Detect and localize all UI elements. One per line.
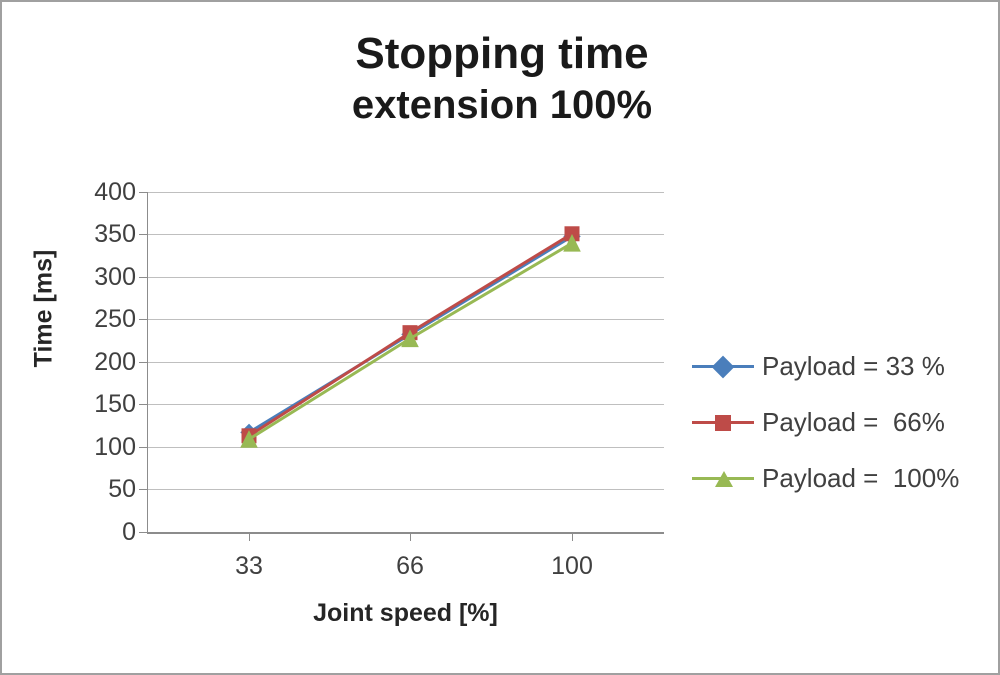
x-axis-title: Joint speed [%] — [147, 599, 664, 628]
legend-marker-triangle-icon — [692, 466, 754, 490]
x-tick-label-66: 66 — [350, 554, 470, 579]
y-axis-tick-150 — [139, 404, 147, 405]
series-group-3 — [241, 235, 580, 447]
legend-label-series-3: Payload = 100% — [754, 463, 959, 494]
legend: Payload = 33 % Payload = 66% Payload = 1… — [692, 338, 992, 506]
y-axis-tick-350 — [139, 234, 147, 235]
triangle-icon — [715, 471, 733, 487]
y-axis-tick-50 — [139, 489, 147, 490]
x-tick-label-33: 33 — [189, 554, 309, 579]
y-axis-tick-100 — [139, 447, 147, 448]
y-axis-tick-300 — [139, 277, 147, 278]
series-plot — [147, 192, 664, 533]
y-axis-tick-400 — [139, 192, 147, 193]
y-axis-tick-200 — [139, 362, 147, 363]
x-tick-label-100: 100 — [512, 554, 632, 579]
y-axis-tick-250 — [139, 319, 147, 320]
legend-label-series-2: Payload = 66% — [754, 407, 945, 438]
legend-label-series-1: Payload = 33 % — [754, 351, 945, 382]
x-axis-tick-66 — [410, 533, 411, 541]
square-icon — [715, 415, 731, 431]
legend-item-payload-100: Payload = 100% — [692, 450, 992, 506]
x-axis-tick-100 — [572, 533, 573, 541]
plot-area — [147, 192, 664, 532]
legend-item-payload-66: Payload = 66% — [692, 394, 992, 450]
x-axis-tick-33 — [249, 533, 250, 541]
legend-item-payload-33: Payload = 33 % — [692, 338, 992, 394]
y-axis-tick-0 — [139, 532, 147, 533]
legend-marker-diamond-icon — [692, 354, 754, 378]
legend-marker-square-icon — [692, 410, 754, 434]
chart-figure: Stopping time extension 100% 400 350 300… — [0, 0, 1000, 675]
y-axis-title: Time [ms] — [30, 209, 59, 409]
diamond-icon — [712, 356, 735, 379]
